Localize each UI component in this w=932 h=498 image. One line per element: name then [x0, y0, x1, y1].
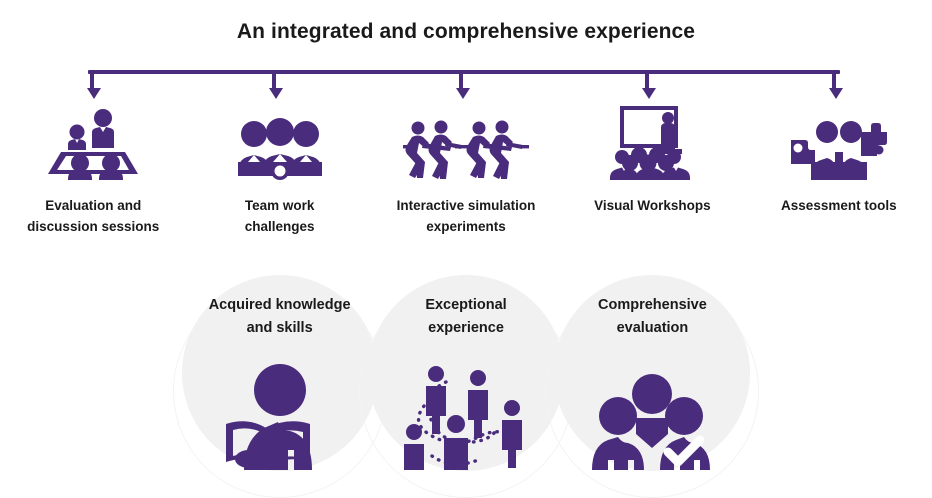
outcome-caption: Exceptional experience — [373, 294, 559, 340]
activity-item-team-work[interactable]: Team work challenges — [186, 100, 372, 238]
activity-caption-line1: Evaluation and — [27, 196, 159, 217]
connector-arrow-stem-3 — [459, 72, 463, 89]
outcome-item-exceptional-experience[interactable]: Exceptional experience — [373, 270, 559, 477]
activity-item-visual-workshops[interactable]: Visual Workshops — [559, 100, 745, 238]
outcome-item-acquired-knowledge[interactable]: Acquired knowledge and skills — [186, 270, 372, 477]
connector-arrow-head-1 — [87, 88, 101, 99]
outcome-caption-line2: and skills — [186, 317, 372, 340]
activity-caption-line1: Team work — [245, 196, 315, 217]
people-checkmark-icon — [590, 374, 714, 470]
activity-item-interactive-simulation[interactable]: Interactive simulation experiments — [373, 100, 559, 238]
activity-caption: Visual Workshops — [594, 196, 711, 217]
activities-row: Evaluation and discussion sessions — [0, 100, 932, 238]
outcome-caption-line1: Exceptional — [373, 294, 559, 317]
activity-caption: Interactive simulation experiments — [397, 196, 536, 238]
tug-of-war-icon — [403, 100, 529, 180]
activity-caption-line1: Interactive simulation — [397, 196, 536, 217]
activity-item-assessment-tools[interactable]: Assessment tools — [746, 100, 932, 238]
outcome-caption: Comprehensive evaluation — [559, 294, 745, 340]
activity-item-evaluation-sessions[interactable]: Evaluation and discussion sessions — [0, 100, 186, 238]
activity-caption-line1: Visual Workshops — [594, 196, 711, 217]
connector-diagram — [88, 70, 840, 100]
puzzle-people-icon — [789, 100, 889, 180]
outcome-caption: Acquired knowledge and skills — [186, 294, 372, 340]
meeting-table-icon — [37, 100, 149, 180]
connector-arrow-head-3 — [456, 88, 470, 99]
activity-caption-line2: challenges — [245, 217, 315, 238]
outcome-item-comprehensive-evaluation[interactable]: Comprehensive evaluation — [559, 270, 745, 477]
team-group-medal-icon — [232, 100, 328, 180]
people-network-icon — [402, 360, 530, 470]
horizontal-connector-bar — [88, 70, 840, 74]
person-reading-book-icon — [218, 362, 342, 470]
outcomes-right-spacer — [746, 270, 932, 477]
outcome-caption-line2: evaluation — [559, 317, 745, 340]
activity-caption: Assessment tools — [781, 196, 897, 217]
outcomes-left-spacer — [0, 270, 186, 477]
connector-arrow-head-2 — [269, 88, 283, 99]
activity-caption-line2: experiments — [397, 217, 536, 238]
page-title: An integrated and comprehensive experien… — [0, 20, 932, 44]
presentation-audience-icon — [602, 100, 702, 180]
connector-arrow-stem-4 — [645, 72, 649, 89]
connector-arrow-head-4 — [642, 88, 656, 99]
activity-caption-line1: Assessment tools — [781, 196, 897, 217]
connector-arrow-stem-5 — [832, 72, 836, 89]
connector-arrow-head-5 — [829, 88, 843, 99]
connector-arrow-stem-1 — [90, 72, 94, 89]
activity-caption: Evaluation and discussion sessions — [27, 196, 159, 238]
outcomes-row: Acquired knowledge and skills Exceptiona… — [0, 270, 932, 477]
activity-caption-line2: discussion sessions — [27, 217, 159, 238]
outcome-caption-line1: Acquired knowledge — [186, 294, 372, 317]
outcome-caption-line1: Comprehensive — [559, 294, 745, 317]
connector-arrow-stem-2 — [272, 72, 276, 89]
outcome-caption-line2: experience — [373, 317, 559, 340]
activity-caption: Team work challenges — [245, 196, 315, 238]
